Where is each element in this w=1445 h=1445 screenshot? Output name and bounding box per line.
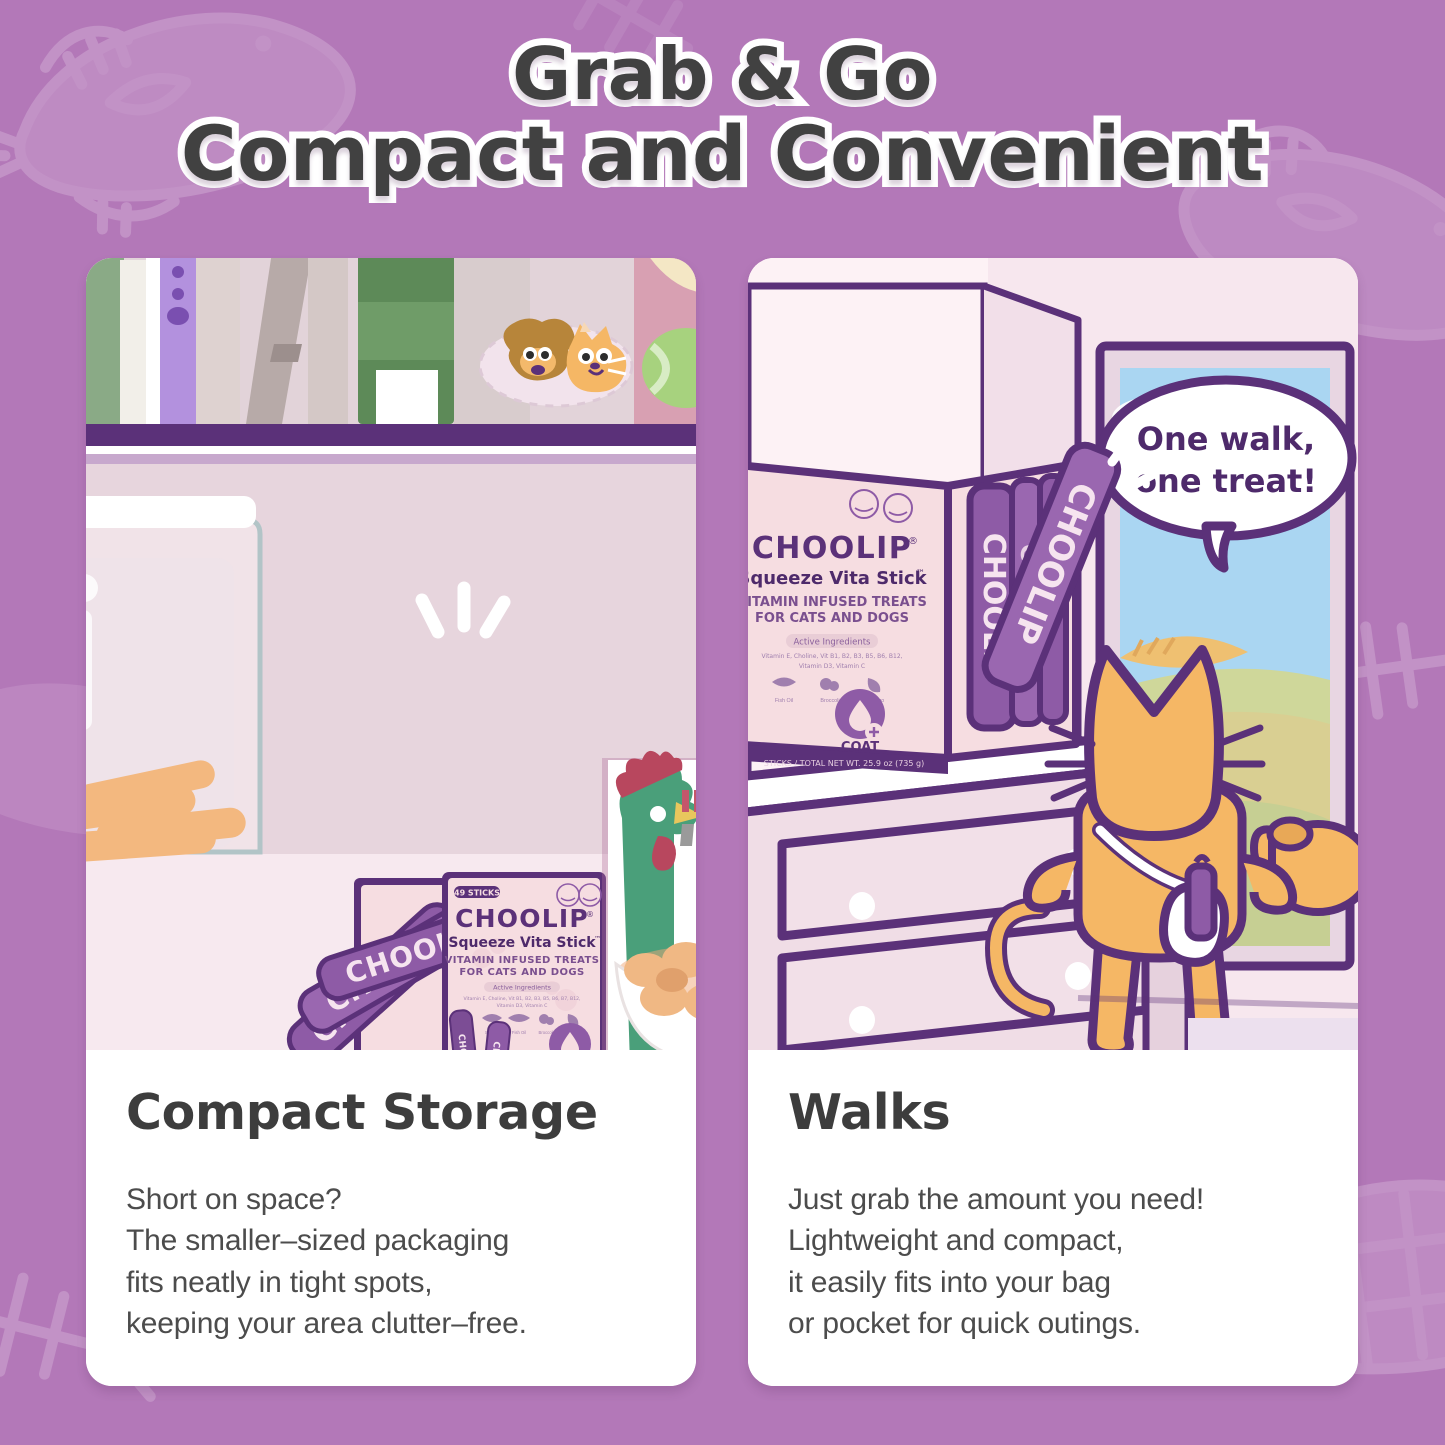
compact-storage-illustration: CHOOLIP CHOOLIP CHOOLIP xyxy=(86,258,696,1050)
svg-text:Vitamin D3, Vitamin C: Vitamin D3, Vitamin C xyxy=(799,663,865,670)
feature-card-list: CHOOLIP CHOOLIP CHOOLIP xyxy=(86,258,1358,1386)
svg-text:FOR CATS AND DOGS: FOR CATS AND DOGS xyxy=(755,611,909,626)
svg-text:STICKS / TOTAL NET WT. 25.9 oz: STICKS / TOTAL NET WT. 25.9 oz (735 g) xyxy=(764,759,924,768)
svg-text:CHOOLIP: CHOOLIP xyxy=(752,531,912,566)
svg-text:Broccoli: Broccoli xyxy=(539,1030,554,1035)
svg-text:Broccoli: Broccoli xyxy=(820,698,839,704)
title-line-1: Grab & Go xyxy=(0,38,1445,111)
card-text-line: Short on space? xyxy=(126,1179,656,1220)
title-line-2: Compact and Convenient xyxy=(0,115,1445,193)
svg-text:®: ® xyxy=(908,536,918,547)
svg-text:One walk,: One walk, xyxy=(1137,420,1315,458)
card-text-line: or pocket for quick outings. xyxy=(788,1303,1318,1344)
svg-text:™: ™ xyxy=(594,935,601,943)
svg-text:®: ® xyxy=(586,910,594,919)
svg-text:Active Ingredients: Active Ingredients xyxy=(794,638,872,648)
card-title-walks: Walks xyxy=(788,1084,1318,1141)
walks-card-body: Walks Just grab the amount you need! Lig… xyxy=(748,1050,1358,1386)
svg-text:Vitamin D3, Vitamin C: Vitamin D3, Vitamin C xyxy=(497,1003,548,1009)
svg-text:Vitamin E, Choline, Vit B1, B2: Vitamin E, Choline, Vit B1, B2, B3, B5, … xyxy=(463,996,581,1002)
card-title-compact-storage: Compact Storage xyxy=(126,1084,656,1141)
card-text-line: fits neatly in tight spots, xyxy=(126,1262,656,1303)
svg-text:Squeeze Vita Stick: Squeeze Vita Stick xyxy=(448,935,596,951)
card-text-line: The smaller–sized packaging xyxy=(126,1220,656,1261)
svg-text:Fish Oil: Fish Oil xyxy=(512,1030,526,1035)
compact-storage-card-body: Compact Storage Short on space? The smal… xyxy=(86,1050,696,1386)
svg-text:49 STICKS: 49 STICKS xyxy=(454,889,500,898)
svg-text:™: ™ xyxy=(916,569,925,579)
svg-text:VITAMIN INFUSED TREATS: VITAMIN INFUSED TREATS xyxy=(445,955,600,966)
walks-illustration: One walk, one treat! xyxy=(748,258,1358,1050)
card-text-compact-storage: Short on space? The smaller–sized packag… xyxy=(126,1179,656,1345)
svg-text:Squeeze Vita Stick: Squeeze Vita Stick xyxy=(748,568,928,589)
card-text-line: Lightweight and compact, xyxy=(788,1220,1318,1261)
svg-text:Fish Oil: Fish Oil xyxy=(775,698,793,704)
page-title: Grab & Go Compact and Convenient xyxy=(0,38,1445,193)
svg-text:CHOOLIP: CHOOLIP xyxy=(455,904,589,933)
card-text-line: it easily fits into your bag xyxy=(788,1262,1318,1303)
card-text-walks: Just grab the amount you need! Lightweig… xyxy=(788,1179,1318,1345)
svg-text:Active Ingredients: Active Ingredients xyxy=(493,984,552,992)
feature-card-compact-storage[interactable]: CHOOLIP CHOOLIP CHOOLIP xyxy=(86,258,696,1386)
card-text-line: keeping your area clutter–free. xyxy=(126,1303,656,1344)
svg-text:VITAMIN INFUSED TREATS: VITAMIN INFUSED TREATS xyxy=(748,595,927,610)
feature-card-walks[interactable]: One walk, one treat! xyxy=(748,258,1358,1386)
svg-text:Vitamin E, Choline, Vit B1, B2: Vitamin E, Choline, Vit B1, B2, B3, B5, … xyxy=(761,653,902,660)
card-text-line: Just grab the amount you need! xyxy=(788,1179,1318,1220)
svg-text:FOR CATS AND DOGS: FOR CATS AND DOGS xyxy=(459,967,584,978)
svg-text:one treat!: one treat! xyxy=(1135,462,1317,500)
